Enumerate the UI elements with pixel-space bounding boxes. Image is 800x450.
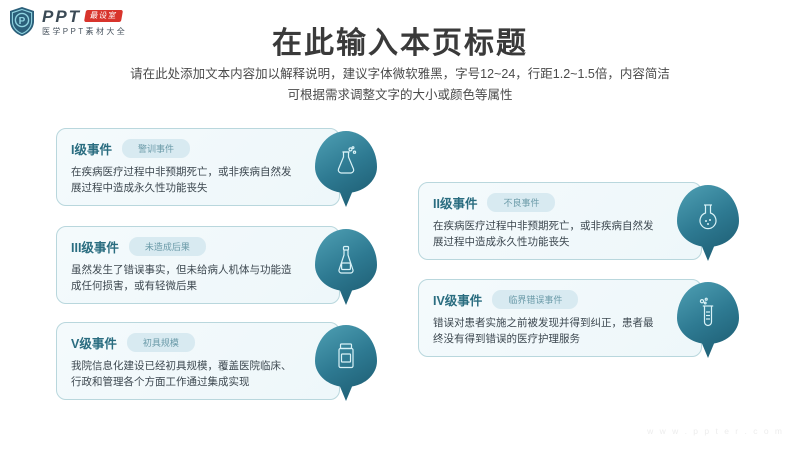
card-description: 虽然发生了错误事实，但未给病人机体与功能造成任何损害，或有轻微后果 [71, 262, 299, 294]
card-level-label: I级事件 [71, 139, 112, 158]
subtitle-line-2: 可根据需求调整文字的大小或颜色等属性 [0, 85, 800, 106]
card-level-label: IV级事件 [433, 290, 482, 309]
card-level-label: V级事件 [71, 333, 117, 352]
event-card-3[interactable]: III级事件 未造成后果 虽然发生了错误事实，但未给病人机体与功能造成任何损害，… [56, 226, 340, 304]
card-level-label: III级事件 [71, 237, 119, 256]
card-header: III级事件 未造成后果 [71, 237, 327, 255]
subtitle-line-1: 请在此处添加文本内容加以解释说明，建议字体微软雅黑，字号12~24，行距1.2~… [0, 64, 800, 85]
flask-bubbles-icon [315, 131, 377, 193]
labeled-flask-icon [315, 229, 377, 291]
test-tube-icon [677, 282, 739, 344]
card-description: 错误对患者实施之前被发现并得到纠正，患者最终没有得到错误的医疗护理服务 [433, 315, 661, 347]
card-header: IV级事件 临界错误事件 [433, 290, 689, 308]
event-card-5[interactable]: V级事件 初具规模 我院信息化建设已经初具规模，覆盖医院临床、行政和管理各个方面… [56, 322, 340, 400]
event-card-2[interactable]: II级事件 不良事件 在疾病医疗过程中非预期死亡，或非疾病自然发展过程中造成永久… [418, 182, 702, 260]
page-subtitle: 请在此处添加文本内容加以解释说明，建议字体微软雅黑，字号12~24，行距1.2~… [0, 64, 800, 106]
page-title: 在此输入本页标题 [0, 18, 800, 62]
card-description: 在疾病医疗过程中非预期死亡，或非疾病自然发展过程中造成永久性功能丧失 [433, 218, 661, 250]
pin-marker-5 [315, 325, 377, 401]
pin-marker-1 [315, 131, 377, 207]
event-card-1[interactable]: I级事件 警训事件 在疾病医疗过程中非预期死亡，或非疾病自然发展过程中造成永久性… [56, 128, 340, 206]
card-description: 我院信息化建设已经初具规模，覆盖医院临床、行政和管理各个方面工作通过集成实现 [71, 358, 299, 390]
card-tag-badge: 未造成后果 [129, 237, 206, 256]
footer-watermark: w w w . p p t e r . c o m [647, 426, 784, 436]
card-tag-badge: 临界错误事件 [492, 290, 578, 309]
card-tag-badge: 警训事件 [122, 139, 190, 158]
event-card-4[interactable]: IV级事件 临界错误事件 错误对患者实施之前被发现并得到纠正，患者最终没有得到错… [418, 279, 702, 357]
card-level-label: II级事件 [433, 193, 477, 212]
pin-marker-3 [315, 229, 377, 305]
card-description: 在疾病医疗过程中非预期死亡，或非疾病自然发展过程中造成永久性功能丧失 [71, 164, 299, 196]
card-header: II级事件 不良事件 [433, 193, 689, 211]
pin-marker-4 [677, 282, 739, 358]
pin-marker-2 [677, 185, 739, 261]
card-tag-badge: 初具规模 [127, 333, 195, 352]
card-header: V级事件 初具规模 [71, 333, 327, 351]
medicine-jar-icon [315, 325, 377, 387]
card-tag-badge: 不良事件 [487, 193, 555, 212]
card-header: I级事件 警训事件 [71, 139, 327, 157]
round-flask-icon [677, 185, 739, 247]
